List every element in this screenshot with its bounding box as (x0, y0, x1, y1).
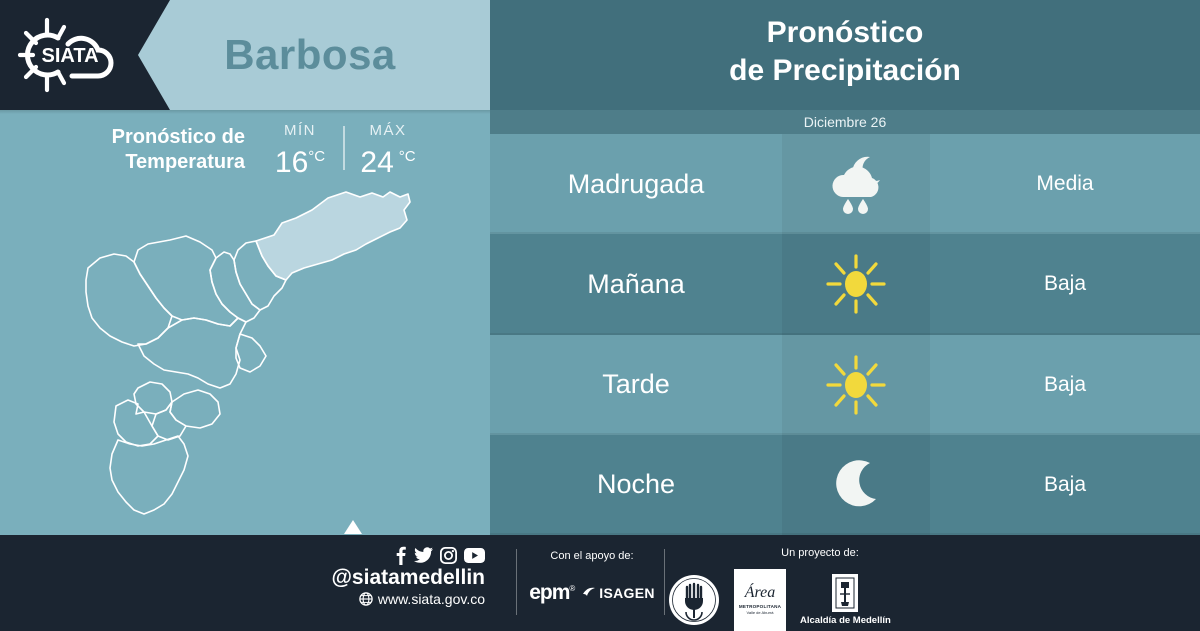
left-panel: SIATA Barbosa Pronóstico de Temperatura … (0, 0, 490, 535)
support-block: Con el apoyo de: epm® ISAGEN (520, 549, 664, 605)
map-region-copacabana (210, 252, 260, 322)
website-row[interactable]: www.siata.gov.co (300, 590, 485, 608)
isagen-logo: ISAGEN (582, 585, 654, 601)
temperature-max-label: MÁX (369, 122, 406, 140)
twitter-icon[interactable] (414, 547, 433, 563)
table-row: Madrugada Media (490, 134, 1200, 234)
instagram-icon[interactable] (440, 547, 457, 564)
udea-seal-icon (668, 574, 720, 626)
social-icons (300, 545, 485, 565)
amva-wordmark: Área (745, 585, 776, 601)
page-title: Barbosa (160, 22, 460, 88)
isagen-bird-icon (582, 587, 596, 599)
alcaldia-logo: Alcaldía de Medellín (800, 574, 891, 626)
forecast-level: Baja (930, 335, 1200, 435)
moon-cloud-rain-icon (782, 134, 930, 234)
amva-subtitle-2: Valle de Aburrá (746, 610, 773, 615)
temperature-max-number: 24 (360, 146, 393, 179)
sun-icon (782, 234, 930, 334)
temperature-min-label: MÍN (284, 122, 316, 140)
forecast-period: Noche (490, 435, 782, 535)
precipitation-title-line2: de Precipitación (729, 54, 961, 87)
right-panel: Pronóstico de Precipitación Diciembre 26… (490, 0, 1200, 535)
alcaldia-crest-icon (832, 574, 858, 612)
globe-icon (359, 592, 373, 606)
temperature-values: MÍN 16°C MÁX 24°C (261, 122, 427, 179)
table-row: Noche Baja (490, 435, 1200, 535)
forecast-level: Baja (930, 435, 1200, 535)
forecast-level: Media (930, 134, 1200, 234)
social-handle[interactable]: @siatamedellin (300, 566, 485, 590)
temperature-min-number: 16 (275, 146, 308, 179)
temperature-max-value: 24°C (360, 140, 415, 179)
weather-infographic: SIATA Barbosa Pronóstico de Temperatura … (0, 0, 1200, 630)
project-block: Un proyecto de: Área METROPOLITANA Valle… (668, 547, 918, 559)
facebook-icon[interactable] (395, 546, 407, 565)
map-region-medellin (138, 318, 246, 388)
youtube-icon[interactable] (464, 548, 485, 563)
social-block: @siatamedellin www.siata.gov.co (300, 545, 485, 608)
forecast-level: Baja (930, 234, 1200, 334)
amva-subtitle-1: METROPOLITANA (739, 604, 781, 609)
svg-text:SIATA: SIATA (41, 45, 98, 67)
epm-label: epm (529, 581, 569, 604)
forecast-period: Mañana (490, 234, 782, 334)
map-region-east-strip (236, 334, 266, 372)
epm-registered-mark: ® (569, 584, 574, 593)
project-caption: Un proyecto de: (720, 547, 920, 559)
forecast-period: Tarde (490, 335, 782, 435)
forecast-table: Madrugada Media Mañana (490, 134, 1200, 535)
map-region-la-estrella (114, 400, 158, 446)
temperature-title: Pronóstico de Temperatura (60, 122, 245, 175)
map-region-northwest (86, 254, 172, 346)
area-metropolitana-logo: Área METROPOLITANA Valle de Aburrá (734, 569, 786, 631)
temperature-summary: Pronóstico de Temperatura MÍN 16°C MÁX 2… (60, 122, 440, 184)
forecast-date: Diciembre 26 (490, 110, 1200, 134)
temperature-min-value: 16°C (275, 140, 325, 179)
precipitation-title: Pronóstico de Precipitación (490, 14, 1200, 90)
map-region-barbosa (256, 192, 410, 280)
temperature-title-line1: Pronóstico de (112, 126, 245, 148)
table-row: Tarde (490, 335, 1200, 435)
epm-logo: epm® (529, 581, 574, 605)
temperature-title-line2: Temperatura (125, 151, 245, 173)
aburra-valley-map: N (60, 188, 460, 533)
temperature-min: MÍN 16°C (261, 122, 339, 179)
footer: @siatamedellin www.siata.gov.co Con el a… (0, 535, 1200, 630)
website-url: www.siata.gov.co (378, 590, 485, 608)
isagen-label: ISAGEN (599, 585, 654, 601)
footer-divider-1 (516, 549, 517, 615)
temperature-max-unit: °C (399, 148, 416, 165)
forecast-period: Madrugada (490, 134, 782, 234)
map-svg (60, 188, 460, 533)
sun-cloud-icon: SIATA (14, 14, 126, 96)
siata-logo-arrow-point (138, 0, 170, 110)
temperature-min-unit: °C (308, 148, 325, 165)
map-region-bello (134, 236, 238, 326)
map-region-envigado (170, 390, 220, 428)
footer-divider-2 (664, 549, 665, 615)
temperature-max: MÁX 24°C (349, 122, 427, 179)
support-logos: epm® ISAGEN (520, 581, 664, 605)
alcaldia-label: Alcaldía de Medellín (800, 615, 891, 626)
table-row: Mañana (490, 234, 1200, 334)
map-region-caldas (110, 436, 188, 514)
sun-icon (782, 335, 930, 435)
temperature-divider (343, 126, 345, 170)
moon-icon (782, 435, 930, 535)
support-caption: Con el apoyo de: (520, 549, 664, 563)
precipitation-title-line1: Pronóstico (767, 16, 924, 49)
project-logos: Área METROPOLITANA Valle de Aburrá Alcal… (668, 569, 891, 631)
